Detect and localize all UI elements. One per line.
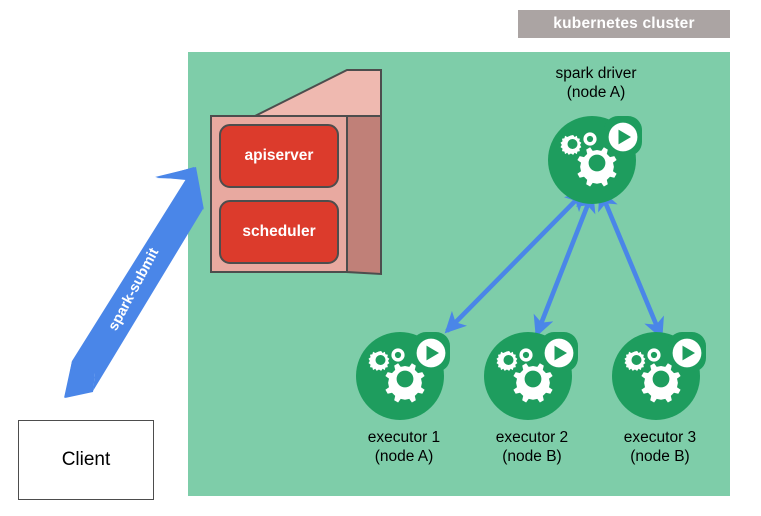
executor-2-node-id: (node B): [470, 448, 594, 467]
kubernetes-cluster-badge-label: kubernetes cluster: [553, 15, 694, 33]
spark-driver-node[interactable]: [548, 112, 644, 204]
client-label: Client: [62, 449, 111, 471]
spark-driver-caption: spark driver (node A): [515, 65, 677, 103]
executor-3-caption: executor 3 (node B): [598, 429, 722, 467]
executor-2-name: executor 2: [470, 429, 594, 448]
executor-3-name: executor 3: [598, 429, 722, 448]
gears-play-blob-icon: [548, 112, 644, 204]
executor-2-caption: executor 2 (node B): [470, 429, 594, 467]
executor-2-node[interactable]: [484, 328, 580, 420]
gears-play-blob-icon: [484, 328, 580, 420]
gears-play-blob-icon: [612, 328, 708, 420]
apiserver-label: apiserver: [245, 147, 314, 165]
executor-1-node[interactable]: [356, 328, 452, 420]
client-box: Client: [18, 420, 154, 500]
executor-1-node-id: (node A): [342, 448, 466, 467]
executor-3-node-id: (node B): [598, 448, 722, 467]
spark-driver-node-id: (node A): [515, 84, 677, 103]
banner-arrow-icon: [55, 165, 205, 405]
spark-driver-name: spark driver: [515, 65, 677, 84]
diagram-canvas: kubernetes cluster spark-submit: [0, 0, 761, 516]
scheduler-label: scheduler: [242, 223, 315, 241]
kubernetes-cluster-badge: kubernetes cluster: [518, 10, 730, 38]
control-plane-components: apiserver scheduler: [219, 124, 339, 264]
gears-play-blob-icon: [356, 328, 452, 420]
scheduler-component[interactable]: scheduler: [219, 200, 339, 264]
apiserver-component[interactable]: apiserver: [219, 124, 339, 188]
executor-1-caption: executor 1 (node A): [342, 429, 466, 467]
executor-1-name: executor 1: [342, 429, 466, 448]
spark-submit-arrow: spark-submit: [55, 165, 205, 405]
executor-3-node[interactable]: [612, 328, 708, 420]
